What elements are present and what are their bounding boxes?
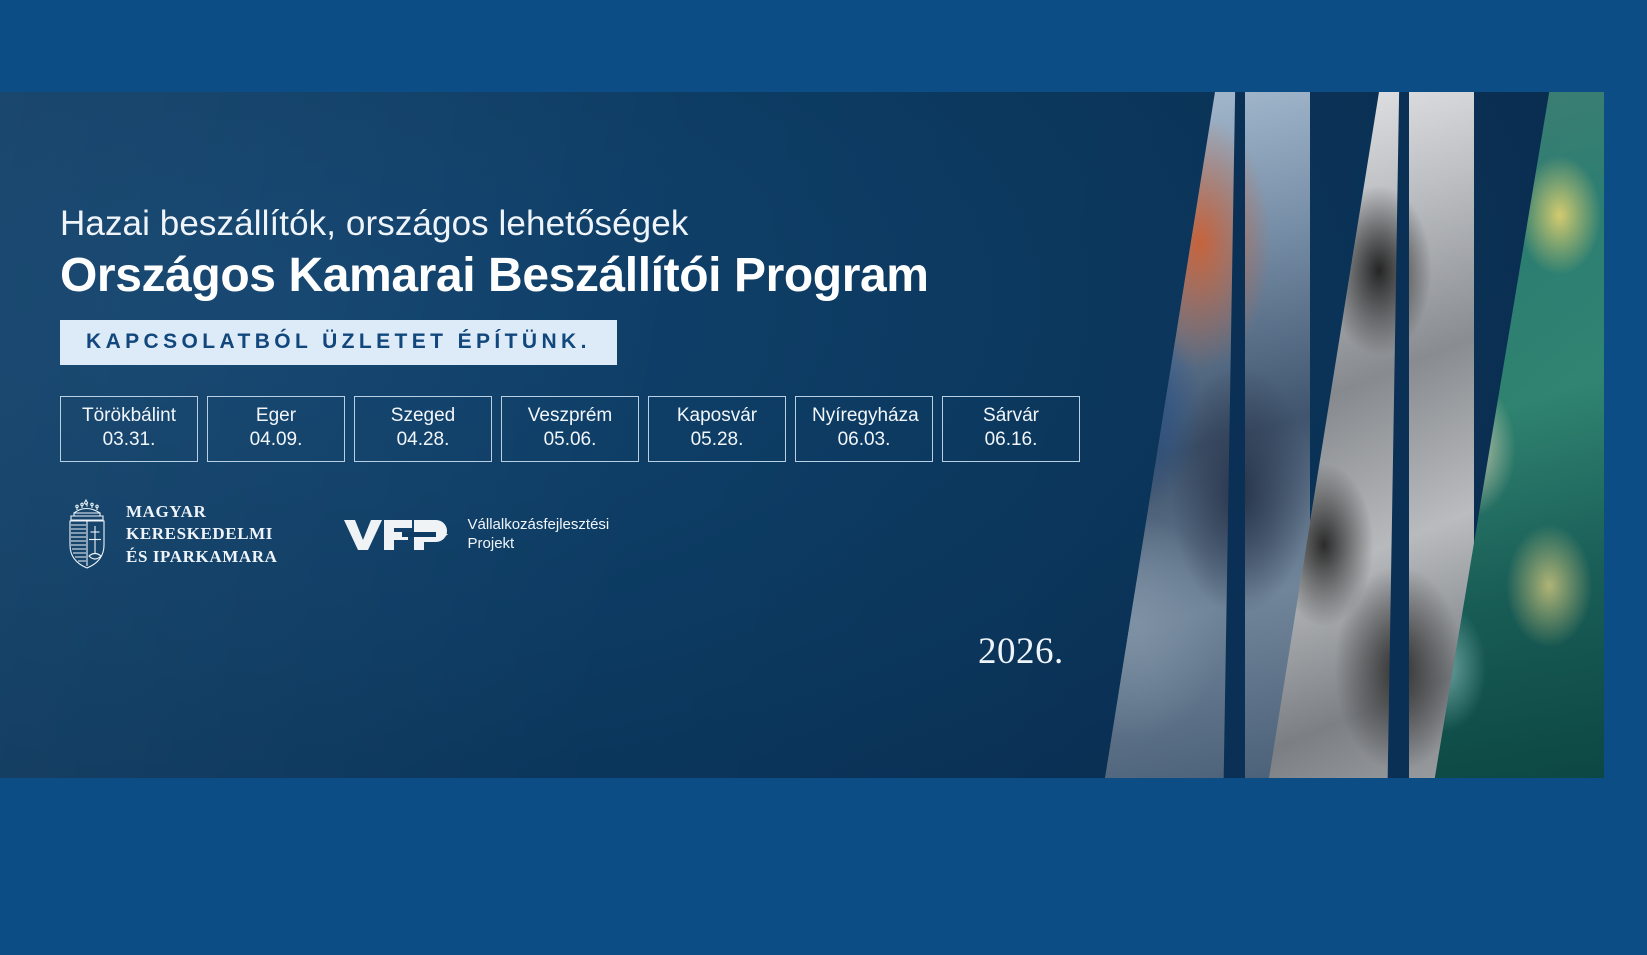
event-city: Veszprém (518, 404, 622, 428)
vfp-line-1: Vállalkozásfejlesztési (468, 515, 610, 534)
event-item-torokbalint[interactable]: Törökbálint 03.31. (60, 396, 198, 462)
banner-content: Hazai beszállítók, országos lehetőségek … (60, 204, 1070, 570)
event-date-list: Törökbálint 03.31. Eger 04.09. Szeged 04… (60, 396, 1070, 462)
mkik-logo[interactable]: MAGYAR KERESKEDELMI ÉS IPARKAMARA (60, 498, 278, 570)
mkik-line-2: KERESKEDELMI (126, 523, 278, 545)
tagline-box: KAPCSOLATBÓL ÜZLETET ÉPÍTÜNK. (60, 320, 617, 365)
event-item-veszprem[interactable]: Veszprém 05.06. (501, 396, 639, 462)
promo-banner: Hazai beszállítók, országos lehetőségek … (0, 92, 1604, 778)
event-city: Eger (224, 404, 328, 428)
event-date: 03.31. (77, 428, 181, 453)
event-date: 05.28. (665, 428, 769, 453)
vfp-mark-icon (344, 516, 456, 552)
banner-tagline: KAPCSOLATBÓL ÜZLETET ÉPÍTÜNK. (86, 330, 591, 354)
event-city: Szeged (371, 404, 475, 428)
robotic-assembly-photo (1060, 92, 1310, 778)
event-date: 05.06. (518, 428, 622, 453)
vfp-line-2: Projekt (468, 534, 610, 553)
banner-year: 2026. (978, 630, 1064, 673)
event-item-eger[interactable]: Eger 04.09. (207, 396, 345, 462)
event-item-nyiregyhaza[interactable]: Nyíregyháza 06.03. (795, 396, 933, 462)
logo-row: MAGYAR KERESKEDELMI ÉS IPARKAMARA (60, 498, 1070, 570)
event-item-sarvar[interactable]: Sárvár 06.16. (942, 396, 1080, 462)
vfp-logo[interactable]: Vállalkozásfejlesztési Projekt (344, 515, 610, 553)
event-city: Nyíregyháza (812, 404, 916, 428)
event-city: Sárvár (959, 404, 1063, 428)
banner-headline: Országos Kamarai Beszállítói Program (60, 249, 1070, 304)
event-date: 06.16. (959, 428, 1063, 453)
page-root: Hazai beszállítók, országos lehetőségek … (0, 0, 1647, 955)
vfp-wordmark: Vállalkozásfejlesztési Projekt (468, 515, 610, 553)
event-date: 04.09. (224, 428, 328, 453)
hungarian-coat-of-arms-icon (60, 498, 114, 570)
event-city: Törökbálint (77, 404, 181, 428)
event-date: 06.03. (812, 428, 916, 453)
event-date: 04.28. (371, 428, 475, 453)
photo-collage (1060, 92, 1604, 778)
event-city: Kaposvár (665, 404, 769, 428)
mkik-wordmark: MAGYAR KERESKEDELMI ÉS IPARKAMARA (126, 501, 278, 568)
event-item-kaposvar[interactable]: Kaposvár 05.28. (648, 396, 786, 462)
banner-eyebrow: Hazai beszállítók, országos lehetőségek (60, 204, 1070, 243)
event-item-szeged[interactable]: Szeged 04.28. (354, 396, 492, 462)
mkik-line-3: ÉS IPARKAMARA (126, 546, 278, 568)
mkik-line-1: MAGYAR (126, 501, 278, 523)
